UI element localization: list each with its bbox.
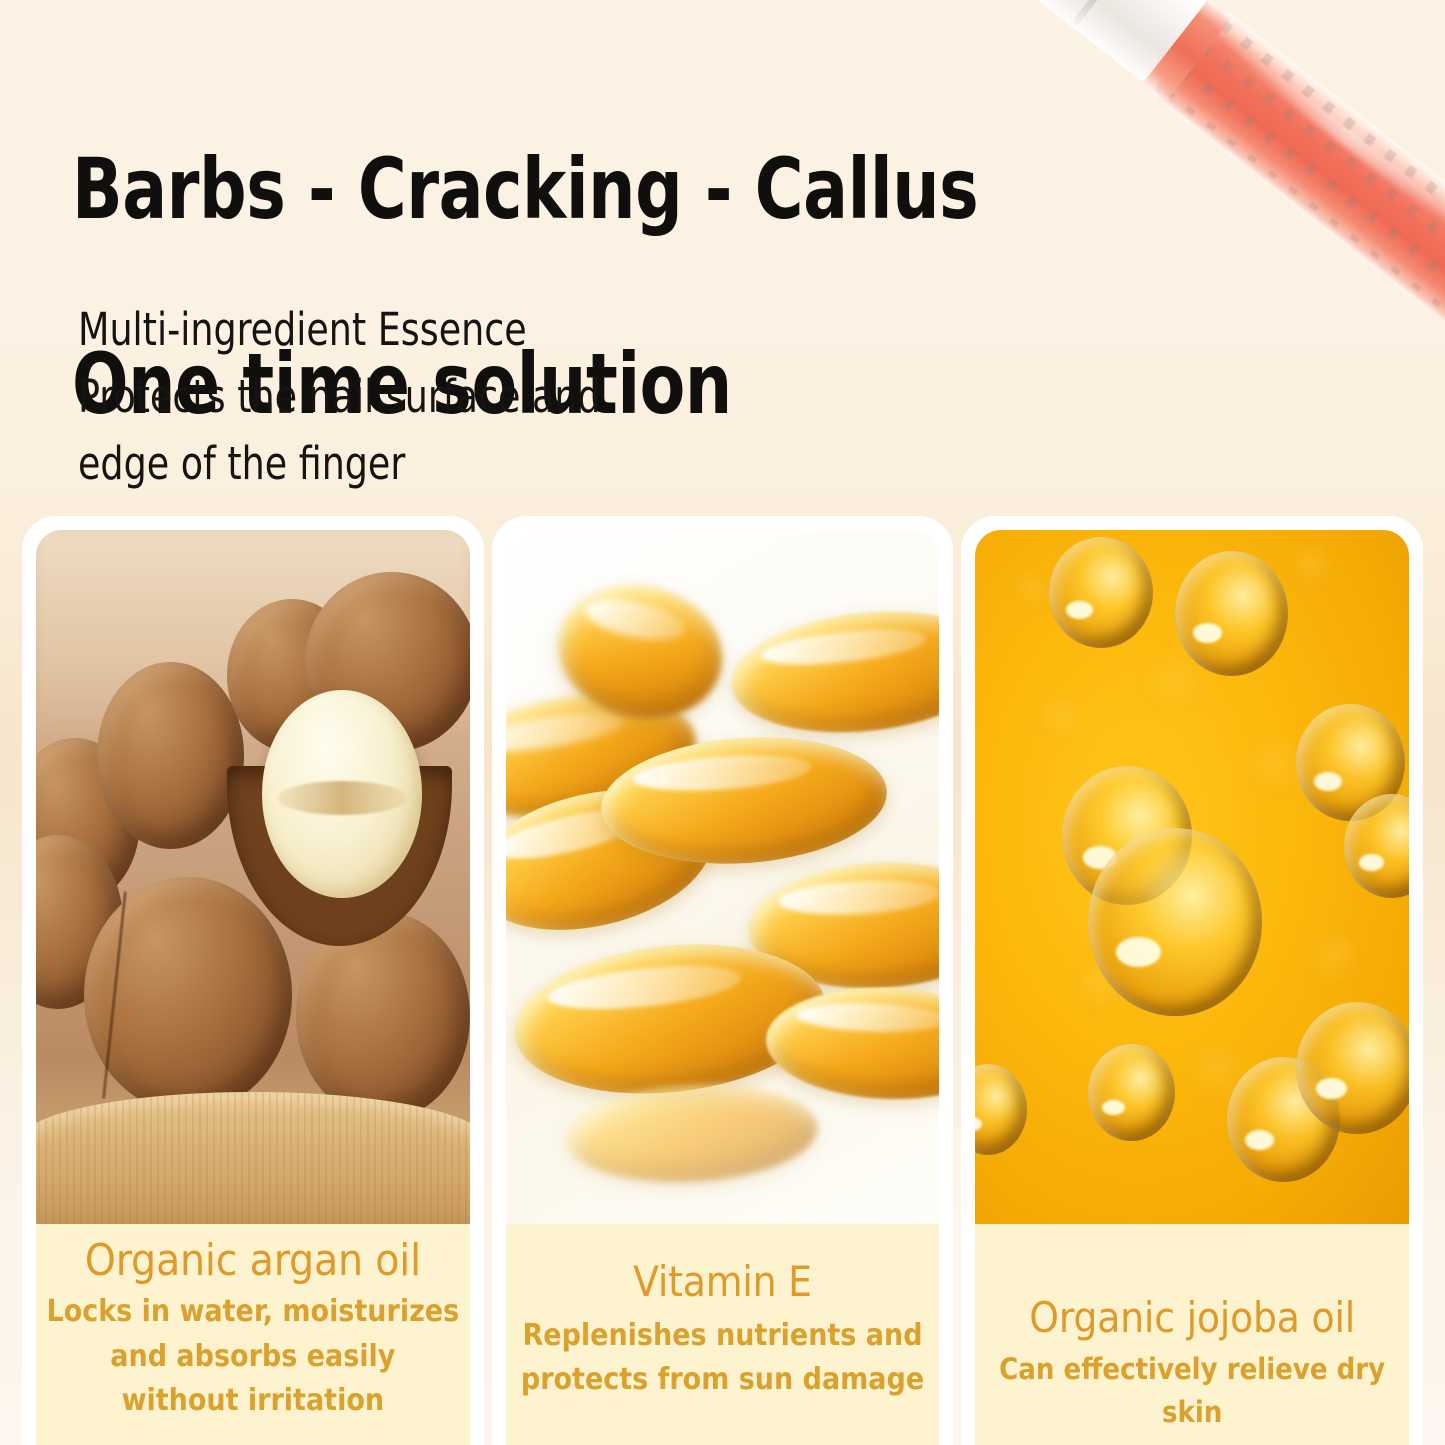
card-description-line: Replenishes nutrients and — [521, 1314, 924, 1358]
card-photo-softgel-capsules — [506, 530, 940, 1224]
subhead-line-2: Protects the nail surface and — [78, 363, 762, 430]
headline-line-1: Barbs - Cracking - Callus — [72, 141, 978, 238]
card-photo-macadamia-nuts — [36, 530, 470, 1224]
capsule-gloss — [778, 877, 940, 918]
card-description-line: protects from sun damage — [521, 1358, 924, 1402]
subhead-line-1: Multi-ingredient Essence — [78, 296, 762, 363]
card-description-line: Locks in water, moisturizes — [47, 1290, 460, 1334]
ingredient-card-organic-jojoba-oil[interactable]: Organic jojoba oil Can effectively relie… — [961, 516, 1423, 1445]
card-description-line: Can effectively relieve dry skin — [983, 1348, 1401, 1434]
ingredient-card-vitamin-e[interactable]: Vitamin E Replenishes nutrients and prot… — [492, 516, 954, 1445]
pen-barrel — [1150, 5, 1445, 340]
card-title: Organic argan oil — [85, 1238, 421, 1284]
capsule-gloss — [633, 751, 812, 796]
capsule-shape-reflection — [564, 1079, 820, 1189]
card-description: Locks in water, moisturizes and absorbs … — [47, 1290, 460, 1423]
oil-bubble — [1305, 933, 1357, 989]
capsule-gloss — [795, 1000, 939, 1034]
oil-bubble — [1049, 537, 1153, 648]
oil-bubble — [1140, 655, 1201, 717]
card-caption: Vitamin E Replenishes nutrients and prot… — [506, 1224, 940, 1445]
oil-bubble — [1296, 1002, 1409, 1134]
macadamia-nuts-image — [36, 530, 470, 1224]
nut-shape — [97, 662, 244, 849]
macadamia-kernel — [262, 690, 422, 898]
oil-bubble — [975, 1064, 1027, 1154]
card-title: Vitamin E — [633, 1260, 812, 1304]
card-description: Can effectively relieve dry skin — [983, 1348, 1401, 1434]
capsule-gloss — [547, 959, 743, 1017]
oil-bubble — [1010, 572, 1049, 614]
jojoba-oil-image — [975, 530, 1409, 1224]
capsule-gloss — [760, 623, 929, 671]
product-infographic-poster: Barbs - Cracking - Callus One time solut… — [0, 0, 1445, 1445]
card-caption: Organic argan oil Locks in water, moistu… — [36, 1224, 470, 1445]
capsule-gloss — [506, 704, 629, 759]
page-subtitle: Multi-ingredient Essence Protects the na… — [78, 296, 762, 497]
card-description-line: without irritation — [47, 1379, 460, 1423]
nut-shape-cracked — [84, 877, 292, 1113]
oil-bubble — [1088, 1044, 1175, 1141]
pen-barrel-print — [1162, 16, 1445, 326]
oil-bubble — [1175, 551, 1288, 676]
card-description-line: and absorbs easily — [47, 1335, 460, 1379]
capsule-gloss — [582, 592, 689, 647]
card-title: Organic jojoba oil — [1029, 1296, 1355, 1340]
pen-body — [1028, 0, 1207, 83]
pen-collar — [1129, 0, 1232, 103]
oil-bubble — [1036, 697, 1084, 746]
oil-bubble-large — [1088, 828, 1261, 1015]
vitamin-e-capsules-image — [506, 530, 940, 1224]
oil-bubble — [1288, 544, 1331, 593]
oil-bubble — [1244, 738, 1300, 800]
card-description: Replenishes nutrients and protects from … — [521, 1314, 924, 1403]
subhead-line-3: edge of the finger — [78, 430, 762, 497]
wooden-bowl-rim — [36, 1092, 470, 1224]
ingredient-card-row: Organic argan oil Locks in water, moistu… — [22, 516, 1423, 1445]
ingredient-card-organic-argan-oil[interactable]: Organic argan oil Locks in water, moistu… — [22, 516, 484, 1445]
card-caption: Organic jojoba oil Can effectively relie… — [975, 1224, 1409, 1445]
capsule-shape — [726, 600, 940, 745]
card-photo-oil-bubbles — [975, 530, 1409, 1224]
